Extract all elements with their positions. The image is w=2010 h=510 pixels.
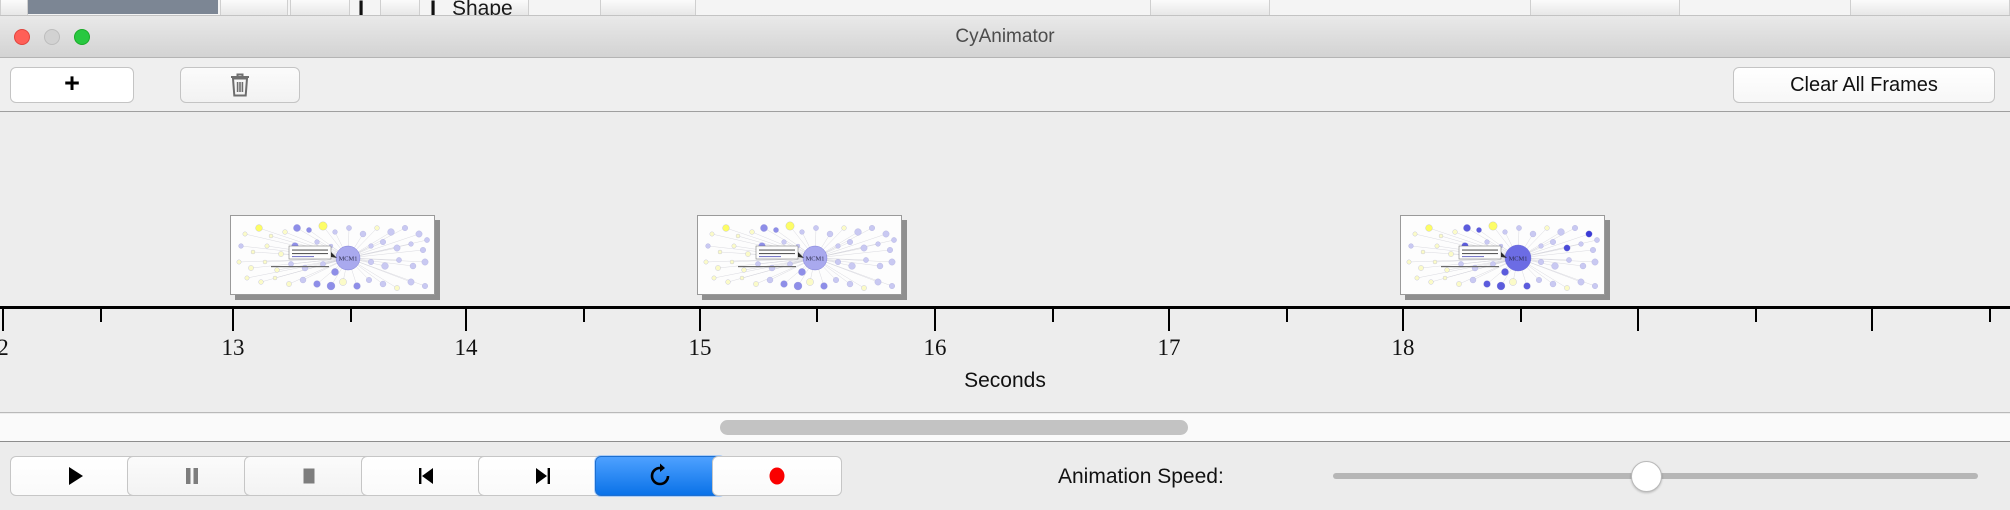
axis-tick <box>934 309 936 331</box>
svg-text:MCM1: MCM1 <box>1509 256 1528 263</box>
axis-tick-label: 16 <box>924 335 947 361</box>
toolbar: + Clear All Frames <box>0 58 2010 112</box>
animation-speed-thumb[interactable] <box>1631 461 1662 492</box>
stop-icon <box>294 461 324 491</box>
background-window-strip: I I Shape <box>0 0 2010 16</box>
axis-tick-label: 14 <box>455 335 478 361</box>
svg-text:MCM1: MCM1 <box>806 256 825 263</box>
svg-text:MCM1: MCM1 <box>339 256 358 263</box>
loop-icon <box>645 461 675 491</box>
pause-button[interactable] <box>127 456 257 496</box>
frame-thumbnail: MCM1 <box>230 215 435 295</box>
axis-tick <box>1520 309 1522 322</box>
timeline-frame[interactable]: MCM1 <box>697 215 905 297</box>
axis-tick <box>1871 309 1873 331</box>
window-title: CyAnimator <box>0 16 2010 58</box>
background-glyph-2: I <box>430 0 436 16</box>
axis-tick-label: 13 <box>222 335 245 361</box>
axis-tick <box>1755 309 1757 322</box>
previous-icon <box>411 461 441 491</box>
axis-tick <box>1168 309 1170 331</box>
axis-tick <box>465 309 467 331</box>
scrollbar-thumb[interactable] <box>720 420 1188 435</box>
add-frame-button[interactable]: + <box>10 67 134 103</box>
loop-button[interactable] <box>595 456 725 496</box>
frame-thumbnail: MCM1 <box>697 215 902 295</box>
axis-tick <box>699 309 701 331</box>
axis-tick-label: 17 <box>1158 335 1181 361</box>
axis-tick <box>1989 309 1991 322</box>
next-icon <box>528 461 558 491</box>
cyanimator-window: I I Shape CyAnimator + Clear All <box>0 0 2010 510</box>
axis-tick-label: 2 <box>0 335 9 361</box>
delete-frame-button[interactable] <box>180 67 300 103</box>
background-glyph-1: I <box>358 0 364 16</box>
background-window-label: Shape <box>452 0 513 16</box>
axis-tick <box>583 309 585 322</box>
background-window-header <box>28 0 218 14</box>
clear-all-frames-button[interactable]: Clear All Frames <box>1733 67 1995 103</box>
title-bar: CyAnimator <box>0 16 2010 58</box>
timeline-axis <box>0 306 2010 309</box>
trash-icon <box>229 72 251 98</box>
axis-tick <box>1286 309 1288 322</box>
axis-tick <box>2 309 4 331</box>
next-button[interactable] <box>478 456 608 496</box>
timeline-panel[interactable]: 2131415161718 MCM1MCM1MCM1 Seconds <box>0 113 2010 413</box>
axis-tick <box>232 309 234 331</box>
previous-button[interactable] <box>361 456 491 496</box>
timeline-frame[interactable]: MCM1 <box>1400 215 1608 297</box>
axis-tick-label: 18 <box>1392 335 1415 361</box>
pause-icon <box>177 461 207 491</box>
axis-title: Seconds <box>0 369 2010 393</box>
timeline-frame[interactable]: MCM1 <box>230 215 438 297</box>
clear-all-frames-label: Clear All Frames <box>1790 74 1938 97</box>
timeline-scrollbar[interactable] <box>0 414 2010 442</box>
axis-tick <box>816 309 818 322</box>
record-button[interactable] <box>712 456 842 496</box>
play-button[interactable] <box>10 456 140 496</box>
transport-bar: Animation Speed: <box>0 443 2010 510</box>
axis-tick <box>1637 309 1639 331</box>
record-icon <box>762 461 792 491</box>
plus-icon: + <box>64 70 80 97</box>
axis-tick-label: 15 <box>689 335 712 361</box>
stop-button[interactable] <box>244 456 374 496</box>
axis-tick <box>100 309 102 322</box>
axis-tick <box>350 309 352 322</box>
frame-thumbnail: MCM1 <box>1400 215 1605 295</box>
animation-speed-label: Animation Speed: <box>1058 465 1224 489</box>
play-icon <box>60 461 90 491</box>
axis-tick <box>1402 309 1404 331</box>
axis-tick <box>1052 309 1054 322</box>
